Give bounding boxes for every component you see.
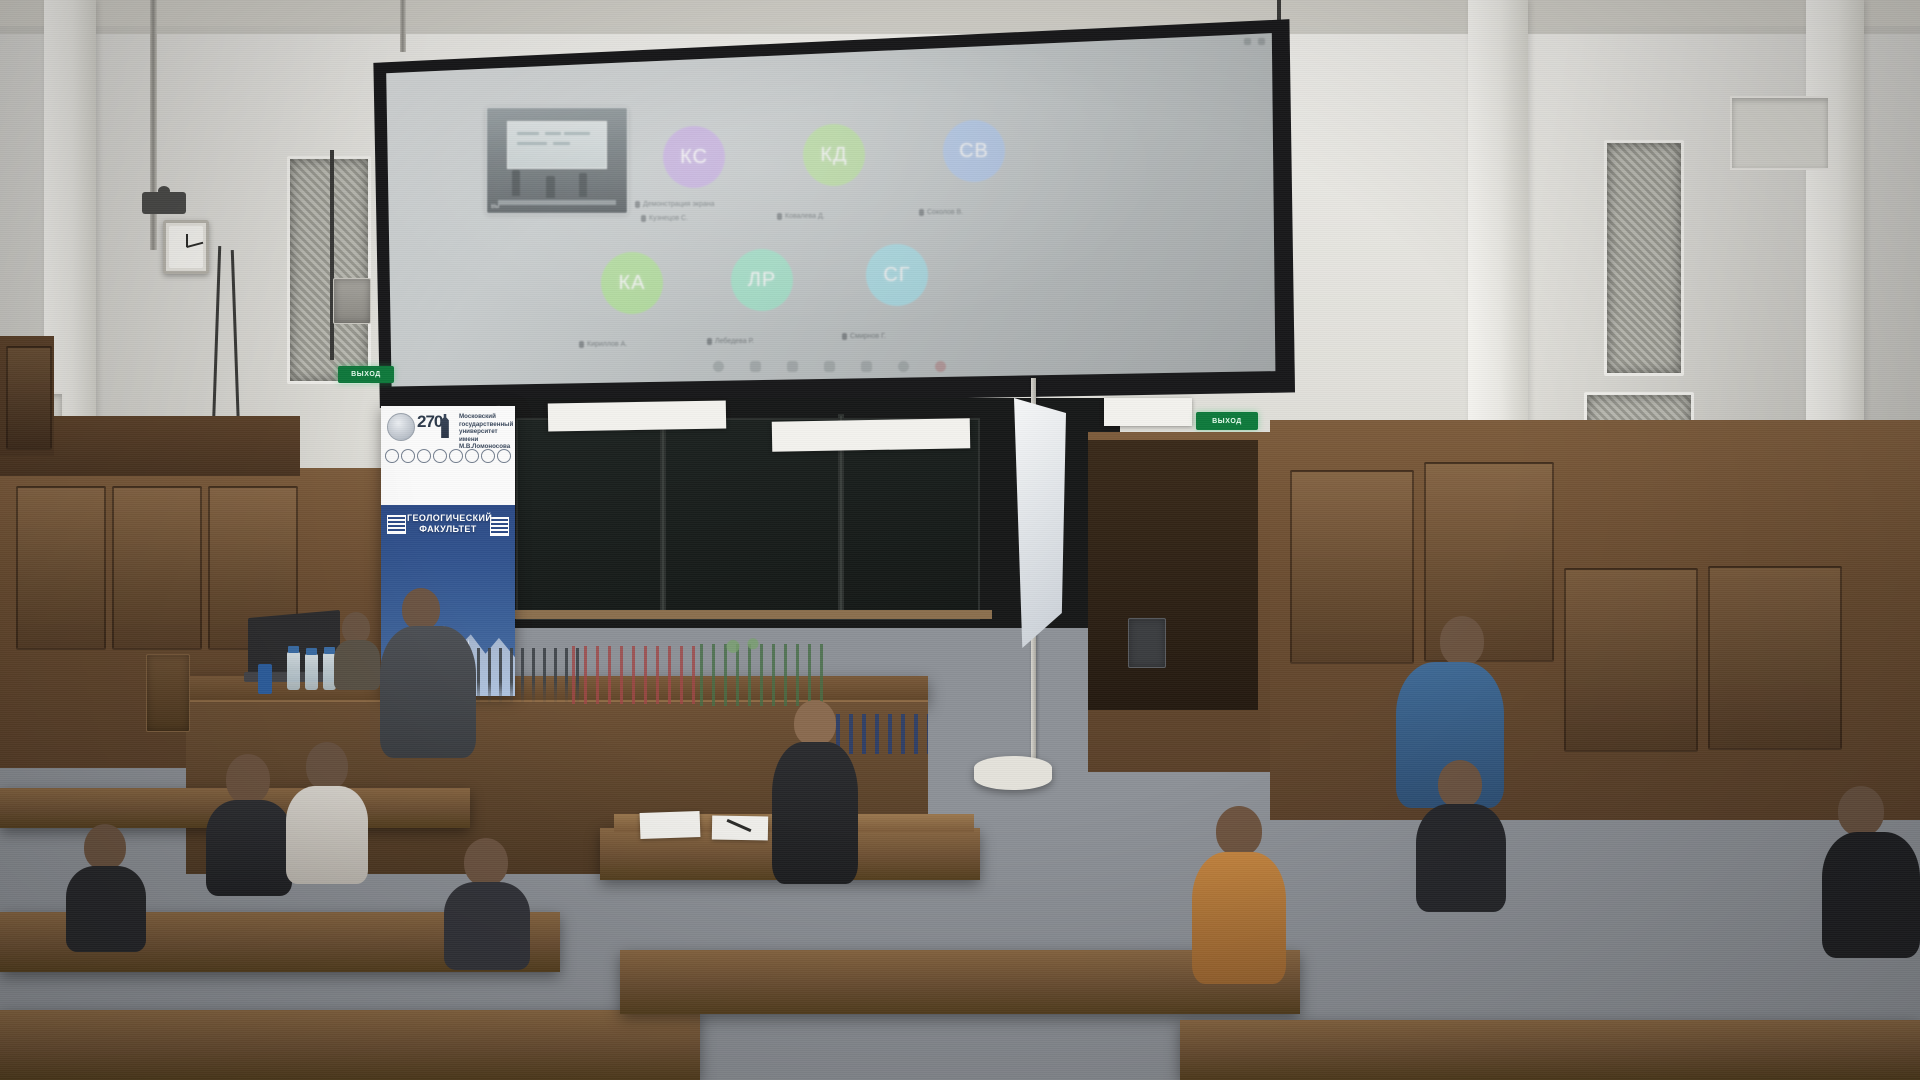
banner-header: 270 Московский государственный университ… — [381, 406, 515, 505]
avatar-initials: СГ — [883, 264, 910, 287]
posted-paper-right — [772, 418, 970, 451]
discipline-icon-5 — [449, 449, 463, 463]
screen-share-tile[interactable]: Вы — [486, 107, 628, 214]
participant-grid: Вы Демонстрация экрана КС Кузнецов С. — [379, 55, 1279, 343]
attendee-head — [1438, 760, 1482, 808]
qr-code-left — [387, 515, 406, 534]
wood-panel-g — [1708, 566, 1842, 750]
crystal-model-group-1 — [466, 648, 586, 704]
avatar: КС — [663, 126, 725, 188]
wall-pipe-center — [400, 0, 406, 52]
hangup-icon[interactable] — [935, 361, 946, 372]
avatar-initials: СВ — [959, 140, 989, 163]
participant-namebar: Ковалева Д. — [777, 213, 825, 220]
presenter — [376, 588, 480, 758]
hanging-cable-c — [330, 150, 334, 360]
participant-name: Лебедева Р. — [715, 338, 754, 345]
participant-namebar: Смирнов Г. — [842, 333, 886, 340]
attendee-head — [464, 838, 508, 886]
avatar: КА — [601, 252, 663, 314]
attendee-seated-3 — [66, 824, 146, 950]
mic-muted-icon — [579, 341, 584, 348]
participant-name: Смирнов Г. — [850, 333, 886, 340]
participant-tile[interactable]: КД — [769, 95, 899, 215]
mic-icon[interactable] — [713, 361, 724, 372]
avatar: СГ — [866, 244, 928, 306]
avatar-initials: КС — [680, 146, 708, 169]
attendee-body — [286, 786, 368, 884]
wall-panel-box-right — [1730, 96, 1830, 170]
participant-namebar: Лебедева Р. — [707, 338, 754, 345]
mic-muted-icon — [641, 215, 646, 222]
app-topbar-actions — [1244, 38, 1265, 45]
attendee-head — [1216, 806, 1262, 856]
attendee-body — [66, 866, 146, 952]
ellipsis-icon[interactable] — [898, 361, 909, 372]
discipline-icon-7 — [481, 449, 495, 463]
banner-university-name: Московский государственный университет и… — [459, 413, 510, 451]
posted-paper-left — [548, 400, 726, 431]
avatar-initials: ЛР — [748, 269, 776, 292]
participant-name: Кириллов А. — [587, 341, 627, 348]
exit-sign-left-label: ВЫХОД — [351, 371, 381, 378]
participants-icon[interactable] — [1244, 38, 1251, 45]
shared-whiteboard — [507, 121, 607, 169]
ceiling-soffit-shadow — [0, 26, 1920, 34]
posted-paper-far-right — [1104, 398, 1192, 426]
presenter-head — [402, 588, 440, 630]
discipline-icon-4 — [433, 449, 447, 463]
attendee-head — [794, 700, 836, 746]
exit-sign-left: ВЫХОД — [338, 366, 394, 383]
people-icon[interactable] — [824, 361, 835, 372]
crystal-model-group-2 — [572, 646, 702, 704]
mic-muted-icon — [777, 213, 782, 220]
bench-row-left-3 — [0, 1010, 700, 1080]
clock-minute-hand — [187, 242, 204, 248]
wall-pilaster-right — [1468, 0, 1528, 480]
attendee-standing-right-2 — [1416, 760, 1506, 910]
assistant-body — [334, 640, 380, 690]
discipline-icon-6 — [465, 449, 479, 463]
participant-tile[interactable]: ЛР — [697, 220, 827, 340]
screen-share-icon[interactable] — [787, 361, 798, 372]
exit-sign-right: ВЫХОД — [1196, 412, 1258, 430]
side-stand — [146, 654, 190, 732]
avatar: КД — [803, 124, 865, 186]
wall-speaker-left — [333, 278, 371, 324]
attendee-body — [1822, 832, 1920, 958]
chalkboard-divider-1 — [660, 416, 666, 618]
participant-tile[interactable]: КС — [629, 97, 759, 217]
attendee-body — [772, 742, 858, 884]
shared-desk-line — [498, 200, 616, 205]
attendee-body — [1192, 852, 1286, 984]
lecture-hall-scene: Конференция — Демонстрация экрана — [0, 0, 1920, 1080]
exit-sign-right-label: ВЫХОД — [1212, 418, 1242, 425]
water-bottle-1 — [287, 652, 300, 690]
attendee-seated-4 — [444, 838, 530, 968]
mic-muted-icon — [707, 338, 712, 345]
attendee-seated-2 — [286, 742, 368, 882]
bench-row-right — [1180, 1020, 1920, 1080]
avatar-initials: КА — [619, 272, 646, 295]
ceiling-soffit — [0, 0, 1920, 26]
white-flag — [1014, 398, 1066, 648]
attendee-standing-center — [770, 700, 860, 884]
banner-faculty-line1: ГЕОЛОГИЧЕСКИЙ — [407, 513, 489, 524]
banner-anniversary: 270 — [417, 412, 442, 432]
banner-faculty-line2: ФАКУЛЬТЕТ — [407, 524, 489, 535]
chat-icon[interactable] — [861, 361, 872, 372]
attendee-head — [306, 742, 348, 790]
assistant-left — [334, 612, 380, 690]
trash-bin — [1128, 618, 1166, 668]
blue-box-item — [258, 664, 272, 694]
projection-screen[interactable]: Конференция — Демонстрация экрана — [379, 31, 1279, 389]
attendee-seated-1 — [206, 754, 292, 890]
participant-name: Кузнецов С. — [649, 215, 688, 222]
paper-on-bench-1 — [640, 811, 701, 839]
attendee-head — [84, 824, 126, 870]
banner-icon-row — [385, 448, 511, 464]
wall-clock — [163, 220, 209, 274]
bottle-cap-1 — [288, 646, 299, 653]
wood-panel-b — [112, 486, 202, 650]
attendee-body — [1416, 804, 1506, 912]
attendee-head — [1440, 616, 1484, 666]
participant-namebar: Кузнецов С. — [641, 215, 688, 222]
attendee-standing-right-4 — [1192, 806, 1286, 982]
video-conference-app[interactable]: Конференция — Демонстрация экрана — [379, 31, 1279, 389]
participant-namebar: Кириллов А. — [579, 341, 627, 348]
mic-muted-icon — [842, 333, 847, 340]
ventilation-grille-right — [1604, 140, 1684, 376]
attendee-body — [206, 800, 292, 896]
participant-tile[interactable]: СГ — [832, 215, 962, 335]
chalkboard-rail — [500, 610, 992, 619]
discipline-icon-3 — [417, 449, 431, 463]
wall-cabinet-panel — [6, 346, 52, 450]
camera-icon[interactable] — [750, 361, 761, 372]
avatar: СВ — [943, 120, 1005, 182]
bottle-cap-2 — [306, 648, 317, 655]
water-bottle-2 — [305, 654, 318, 690]
attendee-body — [444, 882, 530, 970]
attendee-head — [226, 754, 270, 804]
university-crest-icon — [387, 413, 415, 441]
participant-tile[interactable]: СВ — [909, 91, 1039, 211]
presenter-body — [380, 626, 476, 758]
wood-panel-f — [1564, 568, 1698, 752]
wood-panel-a — [16, 486, 106, 650]
ventilation-grille-left — [287, 156, 371, 384]
avatar-initials: КД — [820, 144, 847, 167]
qr-code-right — [490, 517, 509, 536]
share-tile-label: Вы — [491, 204, 499, 210]
camera-lens-icon — [158, 186, 170, 196]
participant-tile[interactable]: КА — [567, 223, 697, 343]
discipline-icon-2 — [401, 449, 415, 463]
attendee-head — [1838, 786, 1884, 836]
discipline-icon-1 — [385, 449, 399, 463]
participant-name: Ковалева Д. — [785, 213, 825, 220]
flag-base — [974, 756, 1052, 790]
avatar: ЛР — [731, 249, 793, 311]
settings-icon[interactable] — [1258, 38, 1265, 45]
plant-decoration — [718, 636, 768, 662]
attendee-standing-right-3 — [1822, 786, 1920, 956]
clock-face — [169, 226, 203, 268]
doorway-alcove — [1088, 440, 1258, 710]
discipline-icon-8 — [497, 449, 511, 463]
